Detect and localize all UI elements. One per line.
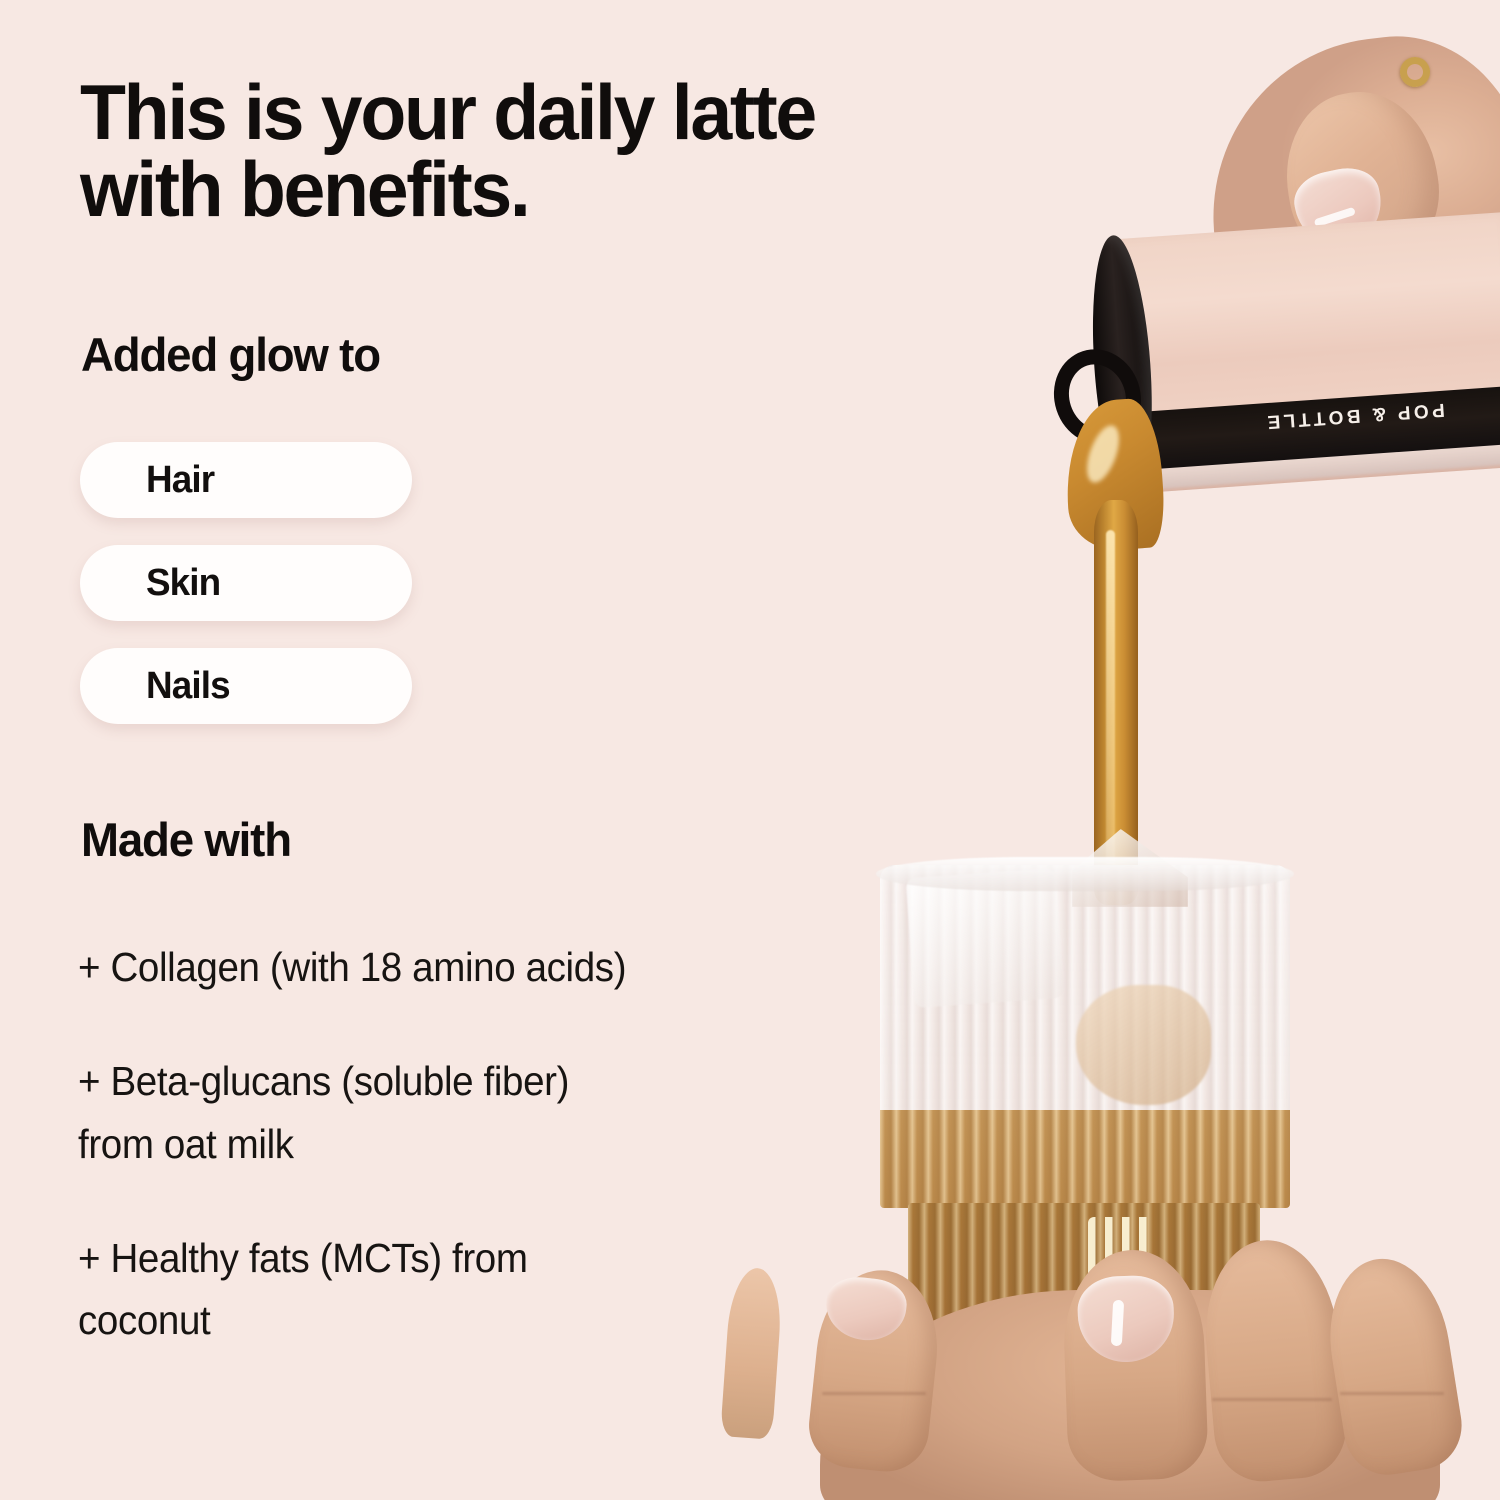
pouring-latte-stream: [1060, 400, 1180, 900]
benefit-pill-skin[interactable]: Skin: [80, 545, 412, 621]
benefit-pill-label: Nails: [80, 665, 230, 708]
ingredient-item-collagen: + Collagen (with 18 amino acids): [78, 936, 821, 998]
benefit-pill-label: Skin: [80, 562, 220, 605]
knuckle-crease: [1212, 1398, 1332, 1401]
made-with-heading: Made with: [81, 812, 291, 867]
knuckle-crease: [822, 1392, 926, 1395]
ingredient-item-beta-glucans: + Beta-glucans (soluble fiber) from oat …: [78, 1050, 821, 1175]
added-glow-heading: Added glow to: [81, 327, 380, 382]
pour-highlight: [1106, 530, 1115, 880]
benefit-pill-list: Hair Skin Nails: [80, 442, 420, 751]
ice-cube: [1076, 985, 1211, 1105]
ingredient-item-healthy-fats: + Healthy fats (MCTs) from coconut: [78, 1227, 821, 1352]
infographic-canvas: This is your daily latte with benefits. …: [0, 0, 1500, 1500]
latte-liquid-upper: [880, 1110, 1290, 1208]
benefit-pill-nails[interactable]: Nails: [80, 648, 412, 724]
benefit-pill-hair[interactable]: Hair: [80, 442, 412, 518]
finger: [1198, 1235, 1350, 1486]
benefit-pill-label: Hair: [80, 459, 214, 502]
knuckle-crease: [1340, 1392, 1444, 1395]
product-photo: POP & BOTTLE: [760, 0, 1500, 1500]
glass-rim: [876, 857, 1294, 891]
